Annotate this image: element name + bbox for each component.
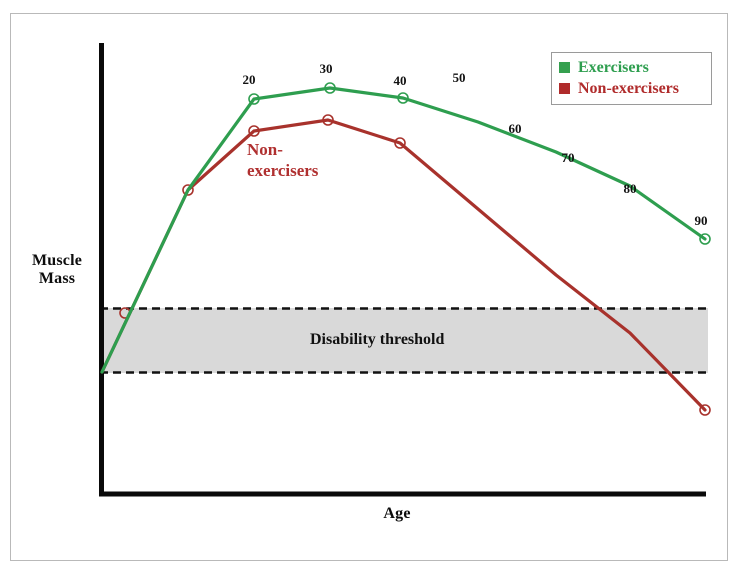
point-label-30: 30 xyxy=(311,61,341,77)
legend-swatch-green-icon xyxy=(559,62,570,73)
point-label-70: 70 xyxy=(553,150,583,166)
legend-item-exercisers: Exercisers xyxy=(559,57,704,78)
y-axis-title-line2: Mass xyxy=(18,270,96,288)
legend-label-non-exercisers: Non-exercisers xyxy=(578,80,679,98)
point-label-20: 20 xyxy=(234,72,264,88)
non-exercisers-annotation-line1: Non- xyxy=(247,139,318,160)
y-axis-title-line1: Muscle xyxy=(18,252,96,270)
chart-legend: Exercisers Non-exercisers xyxy=(551,52,712,105)
non-exercisers-annotation-line2: exercisers xyxy=(247,160,318,181)
non-exercisers-annotation: Non- exercisers xyxy=(247,139,318,182)
legend-label-exercisers: Exercisers xyxy=(578,59,649,77)
legend-item-non-exercisers: Non-exercisers xyxy=(559,78,704,99)
point-label-40: 40 xyxy=(385,73,415,89)
point-label-50: 50 xyxy=(444,70,474,86)
disability-threshold-label: Disability threshold xyxy=(310,331,444,349)
x-axis-title: Age xyxy=(352,505,442,523)
point-label-90: 90 xyxy=(686,213,716,229)
point-label-60: 60 xyxy=(500,121,530,137)
y-axis-title: Muscle Mass xyxy=(18,252,96,289)
legend-swatch-red-icon xyxy=(559,83,570,94)
chart-figure: Muscle Mass Age 20 30 40 50 60 70 80 90 … xyxy=(0,0,740,576)
point-label-80: 80 xyxy=(615,181,645,197)
